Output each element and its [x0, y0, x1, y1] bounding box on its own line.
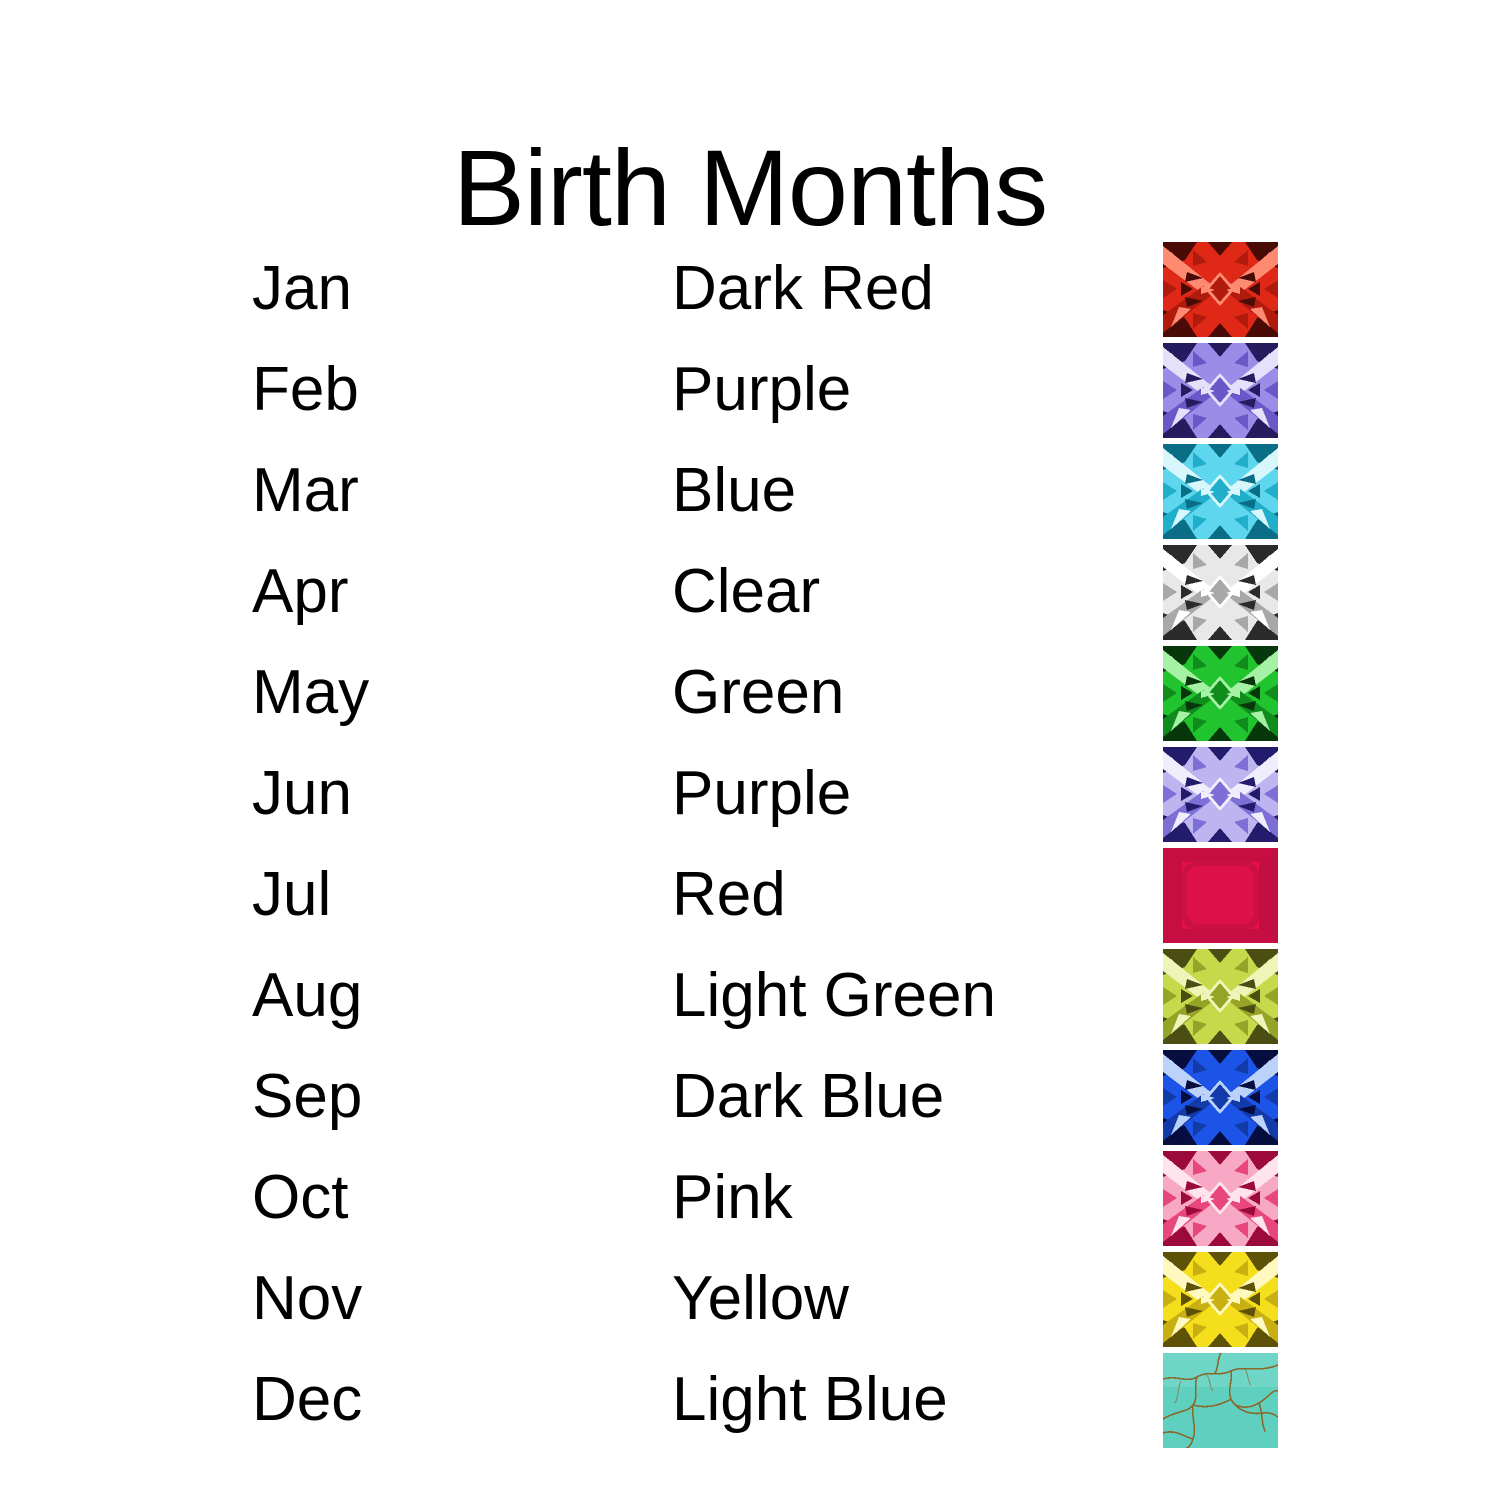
color-name-label: Pink	[672, 1149, 793, 1250]
month-label: May	[252, 644, 369, 745]
month-label: Nov	[252, 1250, 362, 1351]
month-label: Jan	[252, 240, 352, 341]
color-name-label: Purple	[672, 745, 851, 846]
gemstone-red-icon	[1163, 848, 1278, 943]
month-label: Dec	[252, 1351, 362, 1452]
color-name-label: Light Blue	[672, 1351, 948, 1452]
month-label: Sep	[252, 1048, 362, 1149]
color-name-label: Clear	[672, 543, 820, 644]
month-label: Apr	[252, 543, 348, 644]
color-name-label: Dark Red	[672, 240, 934, 341]
month-label: Aug	[252, 947, 362, 1048]
color-name-label: Green	[672, 644, 844, 745]
gemstone-yellow-icon	[1163, 1252, 1278, 1347]
gemstone-clear-icon	[1163, 545, 1278, 640]
gemstone-light-purple-icon	[1163, 747, 1278, 842]
gemstone-aqua-blue-icon	[1163, 444, 1278, 539]
gemstone-light-green-icon	[1163, 949, 1278, 1044]
month-label: Feb	[252, 341, 359, 442]
month-label: Jul	[252, 846, 331, 947]
page-root: Birth Months JanDark RedFebPurpleMarBlue…	[0, 0, 1500, 1500]
color-name-label: Light Green	[672, 947, 996, 1048]
table-row: AugLight Green	[0, 947, 1500, 1048]
gemstone-green-icon	[1163, 646, 1278, 741]
table-row: OctPink	[0, 1149, 1500, 1250]
color-name-label: Dark Blue	[672, 1048, 944, 1149]
gemstone-purple-icon	[1163, 343, 1278, 438]
table-row: JulRed	[0, 846, 1500, 947]
table-row: MayGreen	[0, 644, 1500, 745]
table-row: JanDark Red	[0, 240, 1500, 341]
color-name-label: Yellow	[672, 1250, 849, 1351]
page-title: Birth Months	[0, 134, 1500, 242]
gemstone-pink-icon	[1163, 1151, 1278, 1246]
table-row: NovYellow	[0, 1250, 1500, 1351]
month-label: Jun	[252, 745, 352, 846]
gemstone-dark-blue-icon	[1163, 1050, 1278, 1145]
table-row: FebPurple	[0, 341, 1500, 442]
color-name-label: Red	[672, 846, 786, 947]
table-row: MarBlue	[0, 442, 1500, 543]
table-row: SepDark Blue	[0, 1048, 1500, 1149]
month-label: Mar	[252, 442, 359, 543]
gemstone-dark-red-icon	[1163, 242, 1278, 337]
table-row: AprClear	[0, 543, 1500, 644]
birth-months-table: JanDark RedFebPurpleMarBlueAprClearMayGr…	[0, 240, 1500, 1452]
color-name-label: Blue	[672, 442, 796, 543]
table-row: JunPurple	[0, 745, 1500, 846]
gemstone-turquoise-icon	[1163, 1353, 1278, 1448]
color-name-label: Purple	[672, 341, 851, 442]
table-row: DecLight Blue	[0, 1351, 1500, 1452]
month-label: Oct	[252, 1149, 348, 1250]
